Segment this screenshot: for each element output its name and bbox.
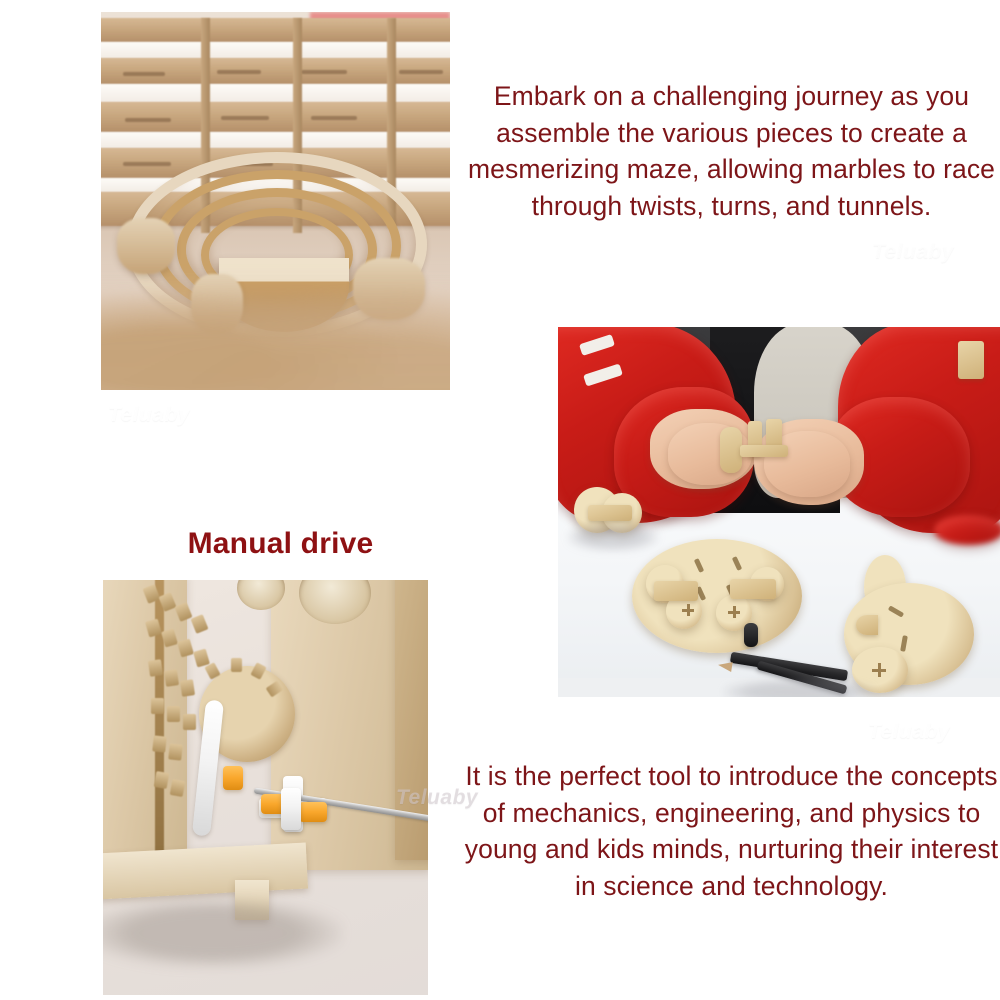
wood-piece-held: [740, 445, 788, 457]
maze-notch: [123, 72, 165, 76]
base-axle: [654, 581, 698, 601]
photo-child-assembling: [558, 327, 1000, 697]
gear-tooth: [145, 619, 162, 638]
gear-tooth: [231, 658, 242, 672]
base-axle: [730, 579, 776, 599]
gear-tooth: [151, 698, 164, 714]
gear-tooth: [148, 659, 163, 677]
watermark-brand: Teluaby: [872, 240, 954, 264]
gear-tooth: [161, 629, 178, 648]
jacket-patch: [958, 341, 984, 379]
benefits-paragraph: It is the perfect tool to introduce the …: [463, 758, 1000, 904]
rod-orange-collar: [299, 802, 327, 822]
screw-slot: [878, 663, 881, 677]
maze-slat: [101, 102, 450, 132]
maze-slat: [101, 58, 450, 84]
photo-manual-drive: [103, 580, 428, 995]
gear-tooth: [167, 706, 180, 722]
maze-gap: [101, 42, 450, 58]
gear-tooth: [170, 779, 186, 797]
gear-tooth: [152, 735, 167, 752]
screw-slot: [687, 604, 690, 616]
gear-tooth: [158, 592, 176, 612]
screw-slot: [733, 606, 736, 618]
maze-gap: [101, 84, 450, 102]
background-red-object: [934, 515, 1000, 545]
gear-tooth: [183, 714, 196, 730]
maze-notch: [221, 116, 269, 120]
gear-tooth: [164, 669, 179, 687]
wooden-axle: [588, 505, 632, 521]
maze-slat: [101, 18, 450, 42]
intro-paragraph: Embark on a challenging journey as you a…: [463, 78, 1000, 224]
gear-tooth: [154, 771, 170, 789]
maze-notch: [123, 162, 171, 166]
wood-part: [856, 615, 878, 635]
maze-notch: [125, 118, 171, 122]
pencil-tip-icon: [717, 660, 732, 672]
gear-tooth: [168, 743, 183, 760]
photo-marble-maze: [101, 12, 450, 390]
gear-tooth: [142, 584, 160, 604]
pencil-shadow: [724, 679, 874, 697]
pencil-clip: [744, 623, 758, 647]
gear-tooth: [180, 679, 195, 697]
watermark-brand: Teluaby: [108, 403, 190, 427]
piece-shadow: [568, 523, 658, 551]
maze-gap: [101, 132, 450, 148]
maze-notch: [399, 70, 443, 74]
maze-foreground-blur: [101, 269, 450, 390]
wood-piece-held: [720, 427, 742, 473]
maze-notch: [301, 70, 347, 74]
manual-drive-heading: Manual drive: [103, 527, 458, 561]
maze-notch: [311, 116, 357, 120]
crank-orange-block: [223, 766, 243, 790]
gear-tooth: [190, 614, 208, 634]
maze-support-arm: [117, 218, 175, 274]
drive-base-shadow: [103, 898, 343, 968]
watermark-brand: Teluaby: [868, 720, 950, 744]
product-description-page: Embark on a challenging journey as you a…: [0, 0, 1000, 1000]
maze-notch: [217, 70, 261, 74]
gear-tooth: [177, 639, 194, 658]
crank-collar-white: [281, 788, 301, 830]
